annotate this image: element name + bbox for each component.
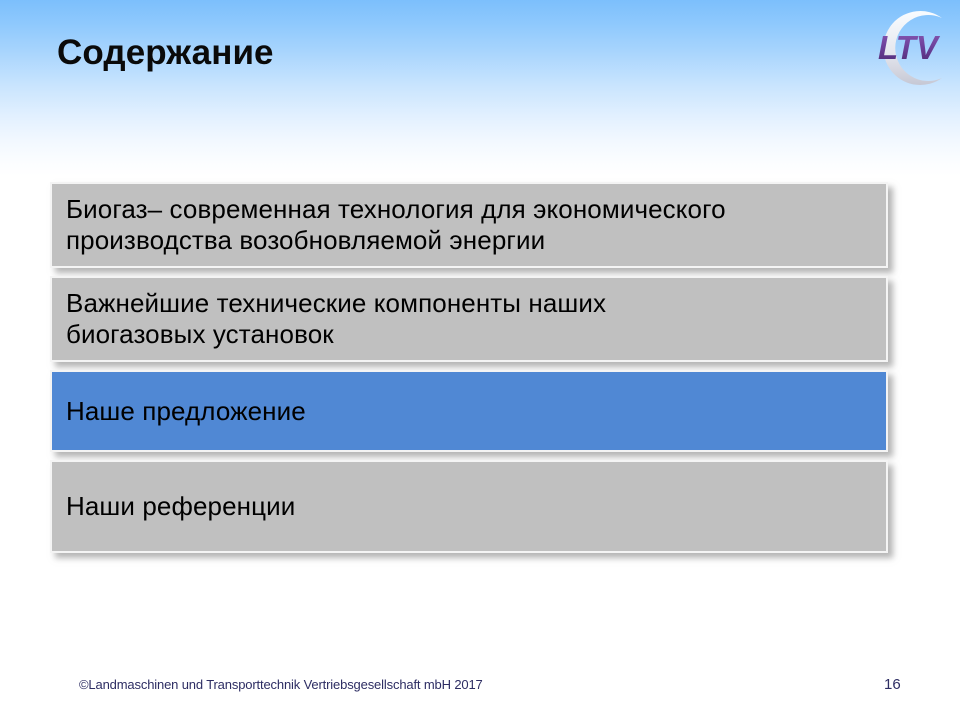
- slide: Содержание LTV: [0, 0, 960, 720]
- footer-copyright: ©Landmaschinen und Transporttechnik Vert…: [79, 677, 483, 692]
- list-item-line2: биогазовых установок: [66, 319, 334, 349]
- list-item-text: Наше предложение: [66, 396, 886, 427]
- list-item-highlighted[interactable]: Наше предложение: [50, 370, 888, 452]
- list-item-text: Важнейшие технические компоненты наших б…: [66, 288, 886, 350]
- list-item-line1: Важнейшие технические компоненты наших: [66, 288, 606, 318]
- list-item-line1: Наше предложение: [66, 396, 306, 426]
- list-item-text: Наши референции: [66, 491, 886, 522]
- ltv-logo: LTV: [862, 3, 956, 93]
- list-item-line2: производства возобновляемой энергии: [66, 225, 545, 255]
- list-item-text: Биогаз– современная технология для эконо…: [66, 194, 886, 256]
- background-gradient: [0, 0, 960, 176]
- contents-list: Биогаз– современная технология для эконо…: [50, 182, 890, 561]
- list-item[interactable]: Важнейшие технические компоненты наших б…: [50, 276, 888, 362]
- svg-text:LTV: LTV: [878, 29, 941, 66]
- list-item-line1: Наши референции: [66, 491, 295, 521]
- list-item[interactable]: Наши референции: [50, 460, 888, 553]
- page-title: Содержание: [57, 33, 274, 73]
- page-number: 16: [884, 676, 901, 693]
- list-item-line1: Биогаз– современная технология для эконо…: [66, 194, 726, 224]
- list-item[interactable]: Биогаз– современная технология для эконо…: [50, 182, 888, 268]
